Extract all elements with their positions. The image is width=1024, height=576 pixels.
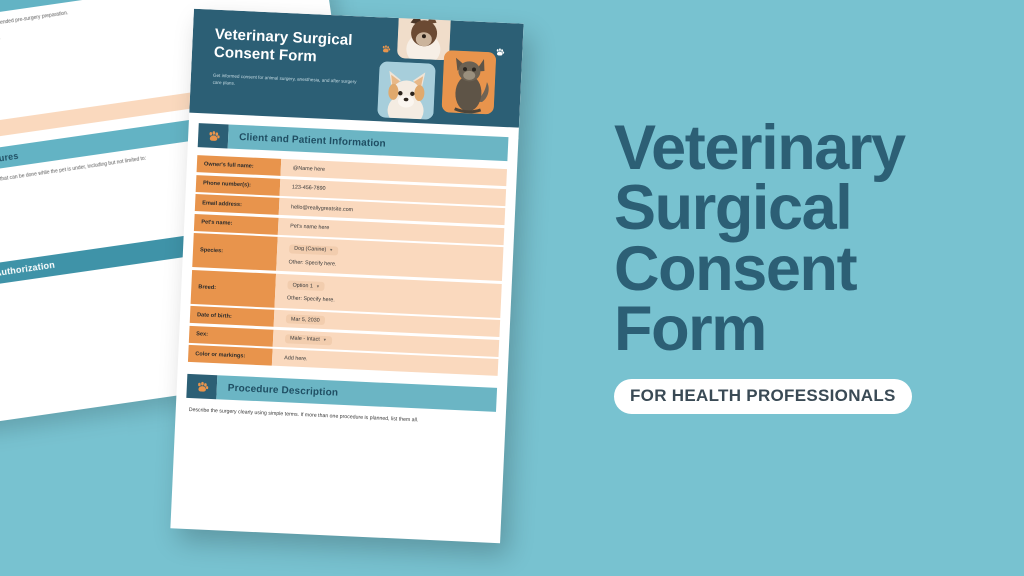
breed-dropdown[interactable]: Option 1 ▼ — [287, 280, 325, 291]
procedure-description-block: Procedure Description Describe the surge… — [176, 373, 507, 428]
hero-title: Veterinary Surgical Consent Form — [614, 118, 1014, 360]
field-label-pets-name: Pet's name: — [194, 214, 279, 235]
section-header-procedure-description: Procedure Description — [186, 374, 497, 412]
field-text: Add here. — [284, 355, 498, 371]
field-label-color-or-markings: Color or markings: — [188, 345, 273, 366]
field-label-phone-numbers: Phone number(s): — [196, 175, 281, 196]
paw-icon — [508, 130, 521, 149]
field-label-date-of-birth: Date of birth: — [190, 306, 275, 327]
veterinary-consent-form-card: Veterinary Surgical Consent Form Get inf… — [170, 9, 523, 543]
hero-badge: FOR HEALTH PROFESSIONALS — [614, 379, 912, 414]
form-title: Veterinary Surgical Consent Form — [214, 26, 380, 70]
hero-title-line-3: Consent — [614, 239, 1014, 299]
field-label-sex: Sex: — [189, 325, 274, 346]
chevron-down-icon: ▼ — [329, 248, 333, 252]
form-title-line-2: Consent Form — [214, 44, 318, 66]
field-text: hello@reallygreatsite.com — [291, 204, 505, 220]
sex-dropdown[interactable]: Male - Intact ▼ — [285, 334, 332, 345]
slide-canvas: risks related to the procedure, both com… — [0, 0, 1024, 576]
species-dropdown[interactable]: Dog (Canine) ▼ — [289, 244, 338, 255]
species-other-text: Other: Specify here. — [288, 259, 502, 275]
field-label-species: Species: — [192, 233, 277, 271]
breed-dropdown-value: Option 1 — [292, 282, 313, 289]
species-dropdown-value: Dog (Canine) — [294, 246, 326, 253]
hero-block: Veterinary Surgical Consent Form FOR HEA… — [614, 118, 1014, 414]
paw-icon — [380, 41, 392, 59]
hero-title-line-2: Surgical — [614, 178, 1014, 238]
pet-photo-right — [442, 50, 497, 114]
client-patient-table: Owner's full name: @Name here Phone numb… — [188, 155, 507, 376]
chevron-down-icon: ▼ — [316, 284, 320, 288]
form-subtitle: Get informed consent for animal surgery,… — [212, 71, 363, 92]
hero-title-line-1: Veterinary — [614, 118, 1014, 178]
field-label-breed: Breed: — [191, 269, 276, 307]
chevron-down-icon: ▼ — [323, 338, 327, 342]
sex-dropdown-value: Male - Intact — [290, 335, 320, 342]
date-of-birth-value: Mar 5, 2030 — [291, 316, 320, 323]
paw-icon — [198, 123, 229, 148]
field-text: Pet's name here — [290, 223, 504, 239]
form-header: Veterinary Surgical Consent Form Get inf… — [189, 9, 523, 128]
section-header-client-patient-information: Client and Patient Information — [198, 123, 509, 161]
field-label-email-address: Email address: — [195, 194, 280, 215]
pet-photo-top — [397, 9, 451, 61]
section-title-procedure-description: Procedure Description — [216, 375, 497, 412]
field-label-owners-full-name: Owner's full name: — [197, 155, 282, 176]
breed-other-text: Other: Specify here. — [287, 295, 501, 311]
date-of-birth-chip[interactable]: Mar 5, 2030 — [286, 314, 325, 325]
field-text: 123-456-7890 — [292, 184, 506, 200]
hero-title-line-4: Form — [614, 299, 1014, 359]
pet-photo-left — [377, 61, 435, 119]
section-title-client-patient-information: Client and Patient Information — [228, 124, 509, 161]
field-text: @Name here — [293, 165, 507, 181]
paw-icon — [494, 44, 506, 62]
paw-icon — [186, 374, 217, 399]
